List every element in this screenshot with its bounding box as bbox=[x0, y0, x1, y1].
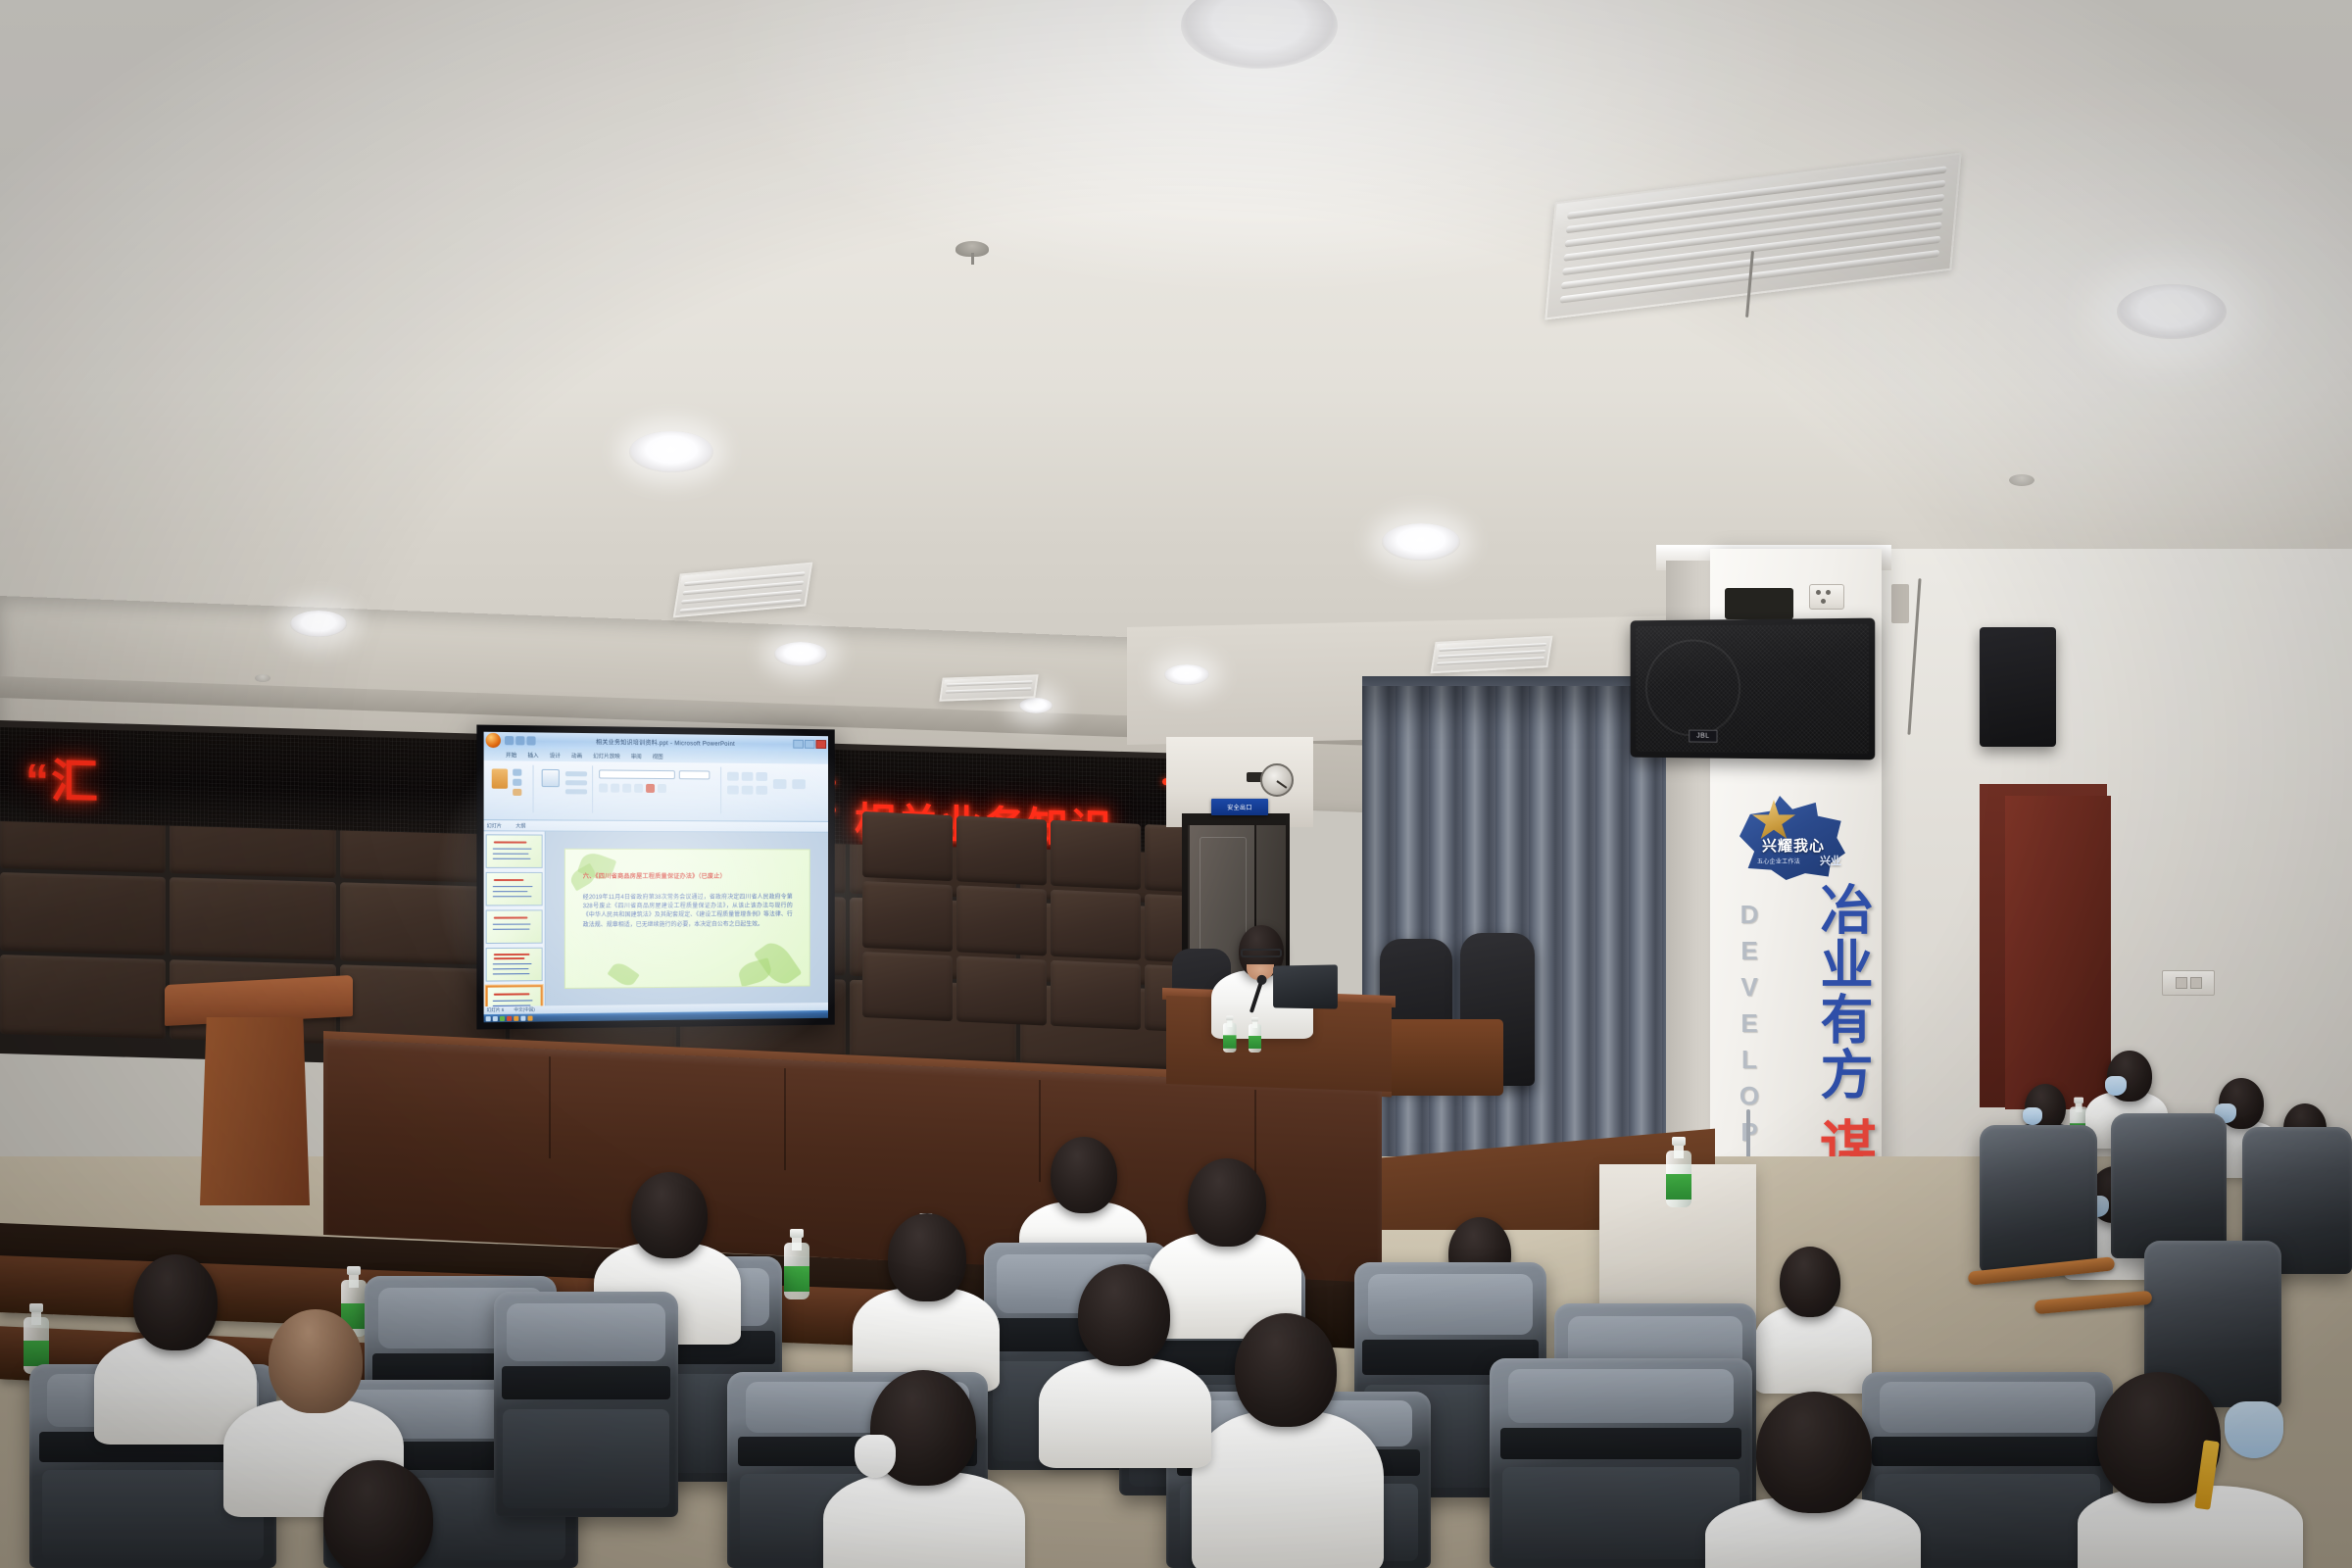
bottle-cap bbox=[347, 1266, 361, 1275]
seat-back bbox=[1502, 1467, 1739, 1559]
bottle-cap bbox=[1672, 1137, 1686, 1146]
ceiling-downlight bbox=[774, 642, 827, 666]
wooden-armchair[interactable] bbox=[1376, 1019, 1503, 1096]
audience-seat[interactable] bbox=[2111, 1113, 2227, 1258]
audience-member-foreground bbox=[2078, 1372, 2303, 1568]
acoustic-panel bbox=[1051, 959, 1141, 1030]
taskbar-app-icon[interactable] bbox=[507, 1015, 512, 1020]
panel-tab-slides[interactable]: 幻灯片 bbox=[487, 822, 502, 829]
decorative-leaf bbox=[736, 958, 773, 988]
audience-head bbox=[1756, 1392, 1872, 1513]
undo-icon[interactable] bbox=[515, 736, 524, 745]
status-slide-number: 幻灯片 6 bbox=[487, 1007, 505, 1013]
wall-switch-panel[interactable] bbox=[2162, 970, 2215, 996]
section-icon[interactable] bbox=[565, 789, 587, 794]
face-mask bbox=[2105, 1076, 2127, 1096]
quick-access-toolbar[interactable] bbox=[505, 736, 536, 745]
taskbar-app-icon[interactable] bbox=[520, 1015, 525, 1020]
audience-member bbox=[1754, 1247, 1872, 1392]
ceiling-downlight bbox=[1019, 698, 1053, 713]
audience-head bbox=[323, 1460, 433, 1568]
seat-headrest bbox=[1508, 1369, 1734, 1424]
bottle-cap bbox=[1251, 1017, 1258, 1022]
face-mask bbox=[2225, 1401, 2283, 1458]
water-bottle bbox=[1666, 1137, 1691, 1207]
jbl-logo: JBL bbox=[1689, 730, 1717, 743]
conference-hall-photo: “汇 相关业务知识 相关业务知识培训资料.ppt - Microsoft Pow… bbox=[0, 0, 2352, 1568]
slide-thumbnail[interactable] bbox=[486, 834, 543, 868]
ribbon-panel[interactable] bbox=[484, 760, 828, 822]
audience-head bbox=[1780, 1247, 1840, 1317]
cut-icon[interactable] bbox=[513, 769, 521, 776]
ceiling-downlight bbox=[1164, 664, 1209, 685]
hvac-vent-icon bbox=[1431, 636, 1553, 674]
speaker-bracket bbox=[1725, 588, 1793, 619]
develop-english-text: DEVELOP bbox=[1735, 900, 1764, 1105]
taskbar-app-icon[interactable] bbox=[500, 1015, 505, 1020]
char-spacing-icon[interactable] bbox=[658, 784, 666, 793]
tab-animation[interactable]: 动画 bbox=[571, 752, 582, 759]
underline-icon[interactable] bbox=[622, 784, 631, 793]
glasses-icon bbox=[1241, 949, 1282, 957]
switch-toggle[interactable] bbox=[2176, 977, 2187, 989]
status-language: 中文(中国) bbox=[514, 1006, 534, 1012]
acoustic-panel bbox=[170, 877, 335, 961]
ribbon-group-paragraph[interactable] bbox=[723, 767, 828, 814]
stage-panel-seam bbox=[549, 1056, 551, 1158]
tab-design[interactable]: 设计 bbox=[550, 751, 561, 759]
exit-sign: 安全出口 bbox=[1211, 799, 1268, 815]
ribbon-group-slides[interactable] bbox=[536, 765, 594, 813]
bottle-cap bbox=[790, 1229, 804, 1238]
layout-icon[interactable] bbox=[565, 771, 587, 776]
acoustic-panel bbox=[956, 886, 1047, 956]
slide-title-text: 六、《四川省商品房屋工程质量保证办法》（已废止） bbox=[583, 871, 798, 880]
sprinkler-head-icon bbox=[955, 241, 989, 257]
stage-panel-seam bbox=[784, 1068, 786, 1170]
bottle-label bbox=[1249, 1036, 1261, 1049]
taskbar-app-icon[interactable] bbox=[514, 1015, 518, 1020]
acoustic-panel bbox=[862, 881, 953, 952]
audience-torso bbox=[823, 1472, 1025, 1568]
jbl-speaker-secondary bbox=[1980, 627, 2056, 747]
audience-torso bbox=[2078, 1486, 2303, 1568]
bottle-label bbox=[1666, 1174, 1691, 1200]
audience-torso bbox=[1754, 1305, 1872, 1394]
tab-slideshow[interactable]: 幻灯片放映 bbox=[593, 752, 620, 759]
font-size-box[interactable] bbox=[679, 770, 710, 779]
ceiling-downlight bbox=[2117, 284, 2227, 339]
smoke-detector-icon bbox=[255, 674, 270, 682]
minimize-icon[interactable] bbox=[793, 739, 804, 748]
smoke-detector-icon bbox=[2009, 474, 2034, 486]
audience-member-foreground bbox=[1039, 1264, 1211, 1460]
projection-screen-frame: 相关业务知识培训资料.ppt - Microsoft PowerPoint 开始… bbox=[476, 725, 834, 1030]
current-slide[interactable]: 六、《四川省商品房屋工程质量保证办法》（已废止） 经2019年11月4日省政府第… bbox=[564, 848, 810, 989]
align-right-icon[interactable] bbox=[756, 786, 767, 795]
switch-toggle[interactable] bbox=[2190, 977, 2202, 989]
align-center-icon[interactable] bbox=[742, 786, 754, 795]
italic-icon[interactable] bbox=[611, 784, 619, 793]
start-button-icon[interactable] bbox=[486, 1016, 491, 1021]
audience-head bbox=[133, 1254, 218, 1350]
seat-band bbox=[502, 1366, 671, 1400]
hvac-vent-icon bbox=[939, 674, 1038, 702]
slide-thumbnail[interactable] bbox=[486, 948, 543, 982]
seat-back bbox=[503, 1409, 668, 1508]
taskbar-app-icon[interactable] bbox=[493, 1016, 498, 1021]
acoustic-panel bbox=[862, 952, 953, 1022]
audience-head bbox=[888, 1213, 966, 1301]
line-spacing-icon[interactable] bbox=[773, 779, 787, 789]
panel-tab-outline[interactable]: 大纲 bbox=[515, 822, 525, 829]
slide-editing-area[interactable]: 六、《四川省商品房屋工程质量保证办法》（已废止） 经2019年11月4日省政府第… bbox=[546, 832, 828, 1006]
audience-head bbox=[269, 1309, 363, 1413]
audience-seat[interactable] bbox=[1980, 1125, 2097, 1272]
wall-clock-icon bbox=[1260, 763, 1294, 797]
columns-icon[interactable] bbox=[792, 779, 806, 789]
audience-torso bbox=[1039, 1358, 1211, 1468]
new-slide-icon[interactable] bbox=[542, 769, 560, 787]
speaker-woofer bbox=[1645, 639, 1740, 737]
jbl-speaker: JBL bbox=[1631, 618, 1876, 760]
presenter-laptop[interactable] bbox=[1273, 964, 1338, 1008]
seat-headrest bbox=[1368, 1274, 1534, 1335]
ceiling-downlight bbox=[1382, 523, 1460, 561]
ceiling-downlight bbox=[629, 431, 713, 472]
tab-home[interactable]: 开始 bbox=[506, 751, 516, 759]
office-orb-icon[interactable] bbox=[486, 732, 501, 747]
audience-member-foreground bbox=[284, 1460, 480, 1568]
audience-head bbox=[1078, 1264, 1170, 1366]
audience-head bbox=[1188, 1158, 1266, 1247]
led-banner-left-text: “汇 bbox=[25, 742, 100, 812]
tab-insert[interactable]: 插入 bbox=[527, 751, 538, 759]
projection-screen[interactable]: 相关业务知识培训资料.ppt - Microsoft PowerPoint 开始… bbox=[484, 732, 828, 1023]
badge-side-text: 兴业 bbox=[1820, 853, 1841, 868]
audience-member-foreground bbox=[823, 1370, 1025, 1568]
power-outlet bbox=[1809, 584, 1844, 610]
bottle-cap bbox=[1226, 1016, 1233, 1021]
maximize-icon[interactable] bbox=[805, 739, 815, 748]
indent-icon[interactable] bbox=[756, 772, 767, 781]
decorative-leaf bbox=[608, 959, 640, 989]
face-mask bbox=[855, 1435, 896, 1478]
audience-head bbox=[631, 1172, 708, 1258]
font-color-icon[interactable] bbox=[646, 784, 655, 793]
tab-view[interactable]: 视图 bbox=[653, 752, 663, 759]
audience-head bbox=[1235, 1313, 1337, 1427]
audience-member-foreground bbox=[1192, 1313, 1384, 1568]
slide-thumbnail[interactable] bbox=[486, 909, 543, 944]
acoustic-panel bbox=[1051, 820, 1141, 891]
save-icon[interactable] bbox=[505, 736, 514, 745]
badge-sub-text: 五心企业工作法 bbox=[1745, 857, 1812, 865]
acoustic-panel bbox=[956, 815, 1047, 886]
taskbar-app-icon[interactable] bbox=[527, 1015, 532, 1020]
strikethrough-icon[interactable] bbox=[634, 784, 643, 793]
slide-body-text: 经2019年11月4日省政府第38次常务会议通过，省政府决定四川省人民政府令第3… bbox=[583, 893, 793, 930]
document-title: 相关业务知识培训资料.ppt - Microsoft PowerPoint bbox=[536, 736, 794, 748]
numbering-icon[interactable] bbox=[742, 772, 754, 781]
format-painter-icon[interactable] bbox=[513, 789, 521, 796]
lectern-stem bbox=[200, 1017, 310, 1205]
slide-thumbnail-selected[interactable] bbox=[486, 985, 543, 1006]
acoustic-panel bbox=[956, 955, 1047, 1026]
seat-headrest bbox=[507, 1303, 665, 1362]
reset-icon[interactable] bbox=[565, 780, 587, 785]
audience-member bbox=[853, 1213, 1000, 1386]
wall-sensor-icon bbox=[1891, 584, 1909, 623]
acoustic-panel bbox=[862, 811, 953, 882]
bottle-label bbox=[784, 1266, 809, 1292]
ribbon-group-font[interactable] bbox=[595, 765, 721, 813]
copy-icon[interactable] bbox=[513, 779, 521, 786]
paste-icon[interactable] bbox=[492, 768, 508, 788]
redo-icon[interactable] bbox=[526, 736, 535, 745]
lectern[interactable] bbox=[165, 980, 353, 1205]
bottle-label bbox=[1223, 1035, 1237, 1049]
bottle-label bbox=[24, 1341, 49, 1366]
acoustic-panel bbox=[0, 955, 166, 1039]
ceiling-downlight bbox=[290, 611, 347, 637]
close-icon[interactable] bbox=[815, 740, 826, 749]
audience-seat[interactable] bbox=[494, 1292, 678, 1517]
acoustic-panel bbox=[1051, 890, 1141, 960]
pillar-slogan-blue: 冶业有方 bbox=[1784, 882, 1868, 1102]
tab-review[interactable]: 审阅 bbox=[631, 752, 642, 759]
slide-thumbnail[interactable] bbox=[486, 872, 543, 906]
water-bottle bbox=[1223, 1016, 1237, 1053]
bold-icon[interactable] bbox=[599, 783, 608, 792]
ribbon-group-clipboard[interactable] bbox=[488, 764, 534, 812]
face-mask bbox=[2023, 1107, 2042, 1125]
water-bottle bbox=[1249, 1017, 1261, 1053]
align-left-icon[interactable] bbox=[727, 786, 739, 795]
bullets-icon[interactable] bbox=[727, 772, 739, 781]
company-badge: 兴耀我心 五心企业工作法 兴业 bbox=[1739, 796, 1845, 880]
audience-member-foreground bbox=[1705, 1392, 1921, 1568]
bottle-cap bbox=[29, 1303, 43, 1312]
window-controls[interactable] bbox=[793, 739, 826, 748]
slide-thumbnail-panel[interactable] bbox=[484, 831, 546, 1006]
water-bottle bbox=[784, 1229, 809, 1299]
font-name-box[interactable] bbox=[599, 769, 675, 779]
audience-torso bbox=[1192, 1411, 1384, 1568]
acoustic-panel bbox=[0, 872, 166, 956]
audience-head bbox=[1051, 1137, 1117, 1213]
